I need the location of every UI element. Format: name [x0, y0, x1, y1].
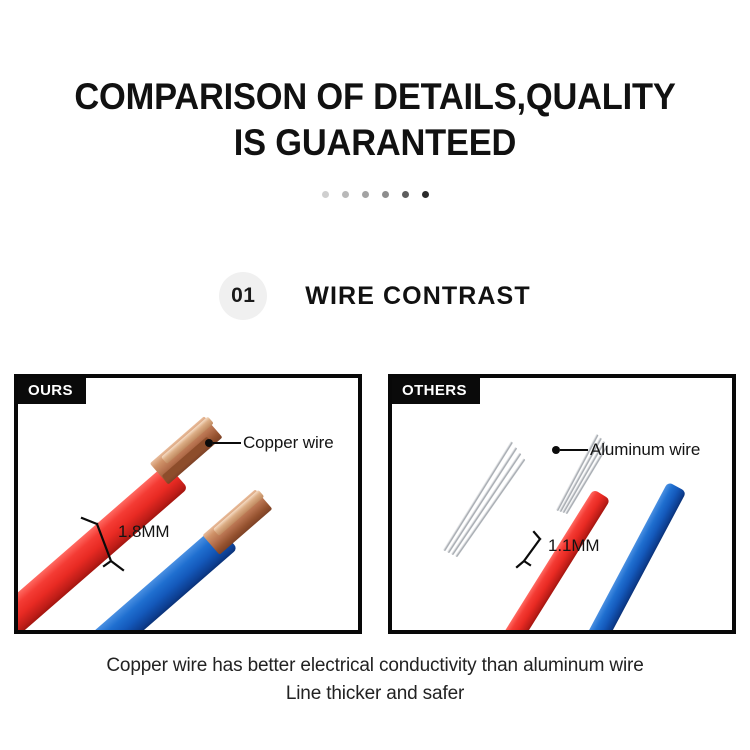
caption-line-2: Line thicker and safer — [0, 680, 750, 708]
title-line-2: IS GUARANTEED — [26, 120, 724, 166]
dot-6 — [422, 191, 429, 198]
title-line-1: COMPARISON OF DETAILS,QUALITY — [26, 74, 724, 120]
dot-2 — [342, 191, 349, 198]
page-title: COMPARISON OF DETAILS,QUALITY IS GUARANT… — [0, 74, 750, 166]
section-header: 01 WIRE CONTRAST — [0, 272, 750, 320]
callout-copper-wire: Copper wire — [205, 433, 334, 453]
wire-photo-others: 1.1MM Aluminum wire — [392, 378, 732, 630]
decorative-dots — [0, 191, 750, 198]
callout-label-ours: Copper wire — [243, 433, 334, 453]
dot-4 — [382, 191, 389, 198]
dot-5 — [402, 191, 409, 198]
callout-label-others: Aluminum wire — [590, 440, 700, 460]
comparison-panel-others: 1.1MM Aluminum wire OTHERS — [388, 374, 736, 634]
panel-tab-ours: OURS — [18, 378, 86, 404]
copper-conductor-blue-ours — [202, 489, 272, 555]
measure-label-ours: 1.8MM — [118, 522, 169, 542]
callout-dot-icon — [552, 446, 560, 454]
callout-aluminum-wire: Aluminum wire — [552, 440, 700, 460]
callout-leader-line — [213, 442, 241, 444]
caption-line-1: Copper wire has better electrical conduc… — [0, 652, 750, 680]
step-number-badge: 01 — [219, 272, 267, 320]
aluminum-strand-red-3 — [451, 453, 522, 556]
comparison-panel-ours: 1.8MM Copper wire OURS — [14, 374, 362, 634]
caption: Copper wire has better electrical conduc… — [0, 652, 750, 708]
dot-3 — [362, 191, 369, 198]
section-title: WIRE CONTRAST — [305, 282, 530, 311]
panel-tab-others: OTHERS — [392, 378, 480, 404]
aluminum-strand-red-2 — [447, 447, 518, 553]
callout-dot-icon — [205, 439, 213, 447]
callout-leader-line — [560, 449, 588, 451]
aluminum-strand-red-1 — [443, 441, 513, 551]
dot-1 — [322, 191, 329, 198]
diameter-bracket-others — [512, 530, 552, 572]
measure-label-others: 1.1MM — [548, 536, 599, 556]
wire-photo-ours: 1.8MM Copper wire — [18, 378, 358, 630]
